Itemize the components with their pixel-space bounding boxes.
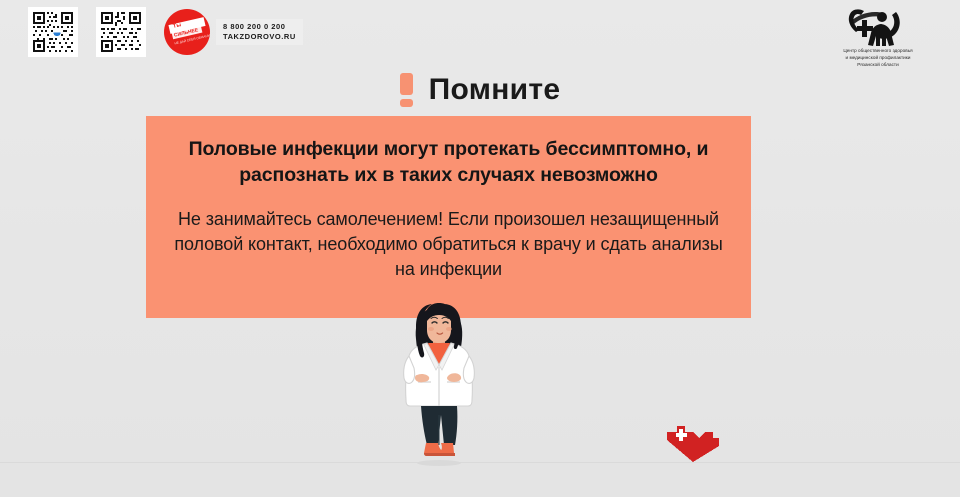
org-logo-line2: и медицинской профилактики [812,54,944,61]
hotline-website: TAKZDOROVO.RU [223,32,296,41]
message-panel: Половые инфекции могут протекать бессимп… [146,116,751,318]
qr-code-1-icon[interactable] [28,7,78,57]
panel-bold-text: Половые инфекции могут протекать бессимп… [172,136,725,188]
page-heading: Помните [0,73,960,107]
health-center-emblem-icon [812,4,944,46]
takzdorovo-circle-icon: Ты СИЛЬНЕЕ НЕ ДАЙ СЕБЯ ОБМАНУТЬ [164,9,210,55]
takzdorovo-contact-block: 8 800 200 0 200 TAKZDOROVO.RU [216,19,303,45]
slide-canvas: Ты СИЛЬНЕЕ НЕ ДАЙ СЕБЯ ОБМАНУТЬ 8 800 20… [0,0,960,497]
female-doctor-illustration [383,303,495,468]
exclamation-mark-icon [400,73,413,107]
takzdorovo-logo-line1: Ты [172,21,182,31]
heart-with-medical-cross-icon [663,418,723,464]
qr-code-2-icon[interactable] [96,7,146,57]
takzdorovo-logo[interactable]: Ты СИЛЬНЕЕ НЕ ДАЙ СЕБЯ ОБМАНУТЬ 8 800 20… [164,9,303,55]
organization-logo: Центр общественного здоровья и медицинск… [812,4,944,68]
org-logo-line3: Рязанской области [812,61,944,68]
page-title: Помните [429,73,561,107]
panel-body-text: Не занимайтесь самолечением! Если произо… [172,207,725,282]
org-logo-line1: Центр общественного здоровья [812,47,944,54]
hotline-phone: 8 800 200 0 200 [223,22,296,31]
partner-logo-bar: Ты СИЛЬНЕЕ НЕ ДАЙ СЕБЯ ОБМАНУТЬ 8 800 20… [28,6,303,58]
